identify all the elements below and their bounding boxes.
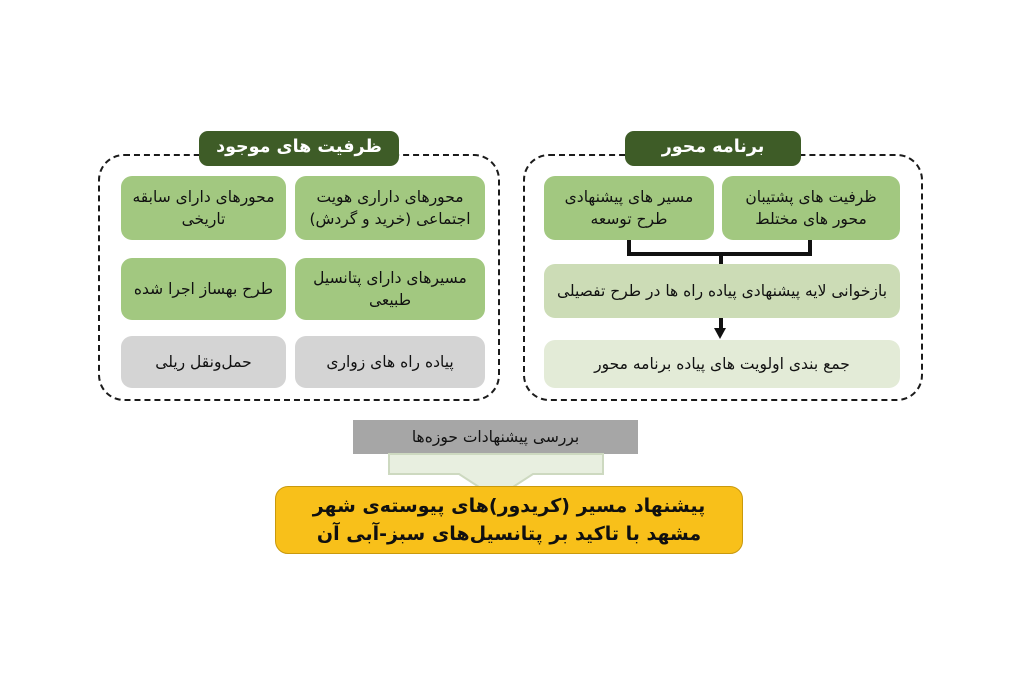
group-title-existing-capacities: ظرفیت های موجود xyxy=(199,131,399,166)
node-support-capacities[interactable]: ظرفیت های پشتیبان محور های مختلط xyxy=(722,176,900,240)
node-proposed-routes[interactable]: مسیر های پیشنهادی طرح توسعه xyxy=(544,176,714,240)
final-proposal-box[interactable]: پیشنهاد مسیر (کریدور)‌های پیوسته‌ی شهر م… xyxy=(275,486,743,554)
group-title-axis-program: برنامه محور xyxy=(625,131,801,166)
node-historic-axes[interactable]: محورهای دارای سابقه تاریخی xyxy=(121,176,286,240)
node-rail-transport[interactable]: حمل‌ونقل ریلی xyxy=(121,336,286,388)
node-behsaz-plan[interactable]: طرح بهساز اجرا شده xyxy=(121,258,286,320)
review-proposals-bar[interactable]: بررسی پیشنهادات حوزه‌ها xyxy=(353,420,638,454)
node-social-identity-axes[interactable]: محورهای دارارى هویت اجتماعی (خرید و گردش… xyxy=(295,176,485,240)
node-natural-potential-routes[interactable]: مسیرهای دارای پتانسیل طبیعی xyxy=(295,258,485,320)
node-pilgrim-walkways[interactable]: پیاده راه های زواری xyxy=(295,336,485,388)
diagram-canvas: ظرفیت های موجود محورهای دارارى هویت اجتم… xyxy=(0,0,1024,683)
node-priority-summary[interactable]: جمع بندی اولویت های پیاده برنامه محور xyxy=(544,340,900,388)
node-rereading-layer[interactable]: بازخوانی لایه پیشنهادی پیاده راه ها در ط… xyxy=(544,264,900,318)
arrow-down-icon-priority xyxy=(714,328,726,339)
